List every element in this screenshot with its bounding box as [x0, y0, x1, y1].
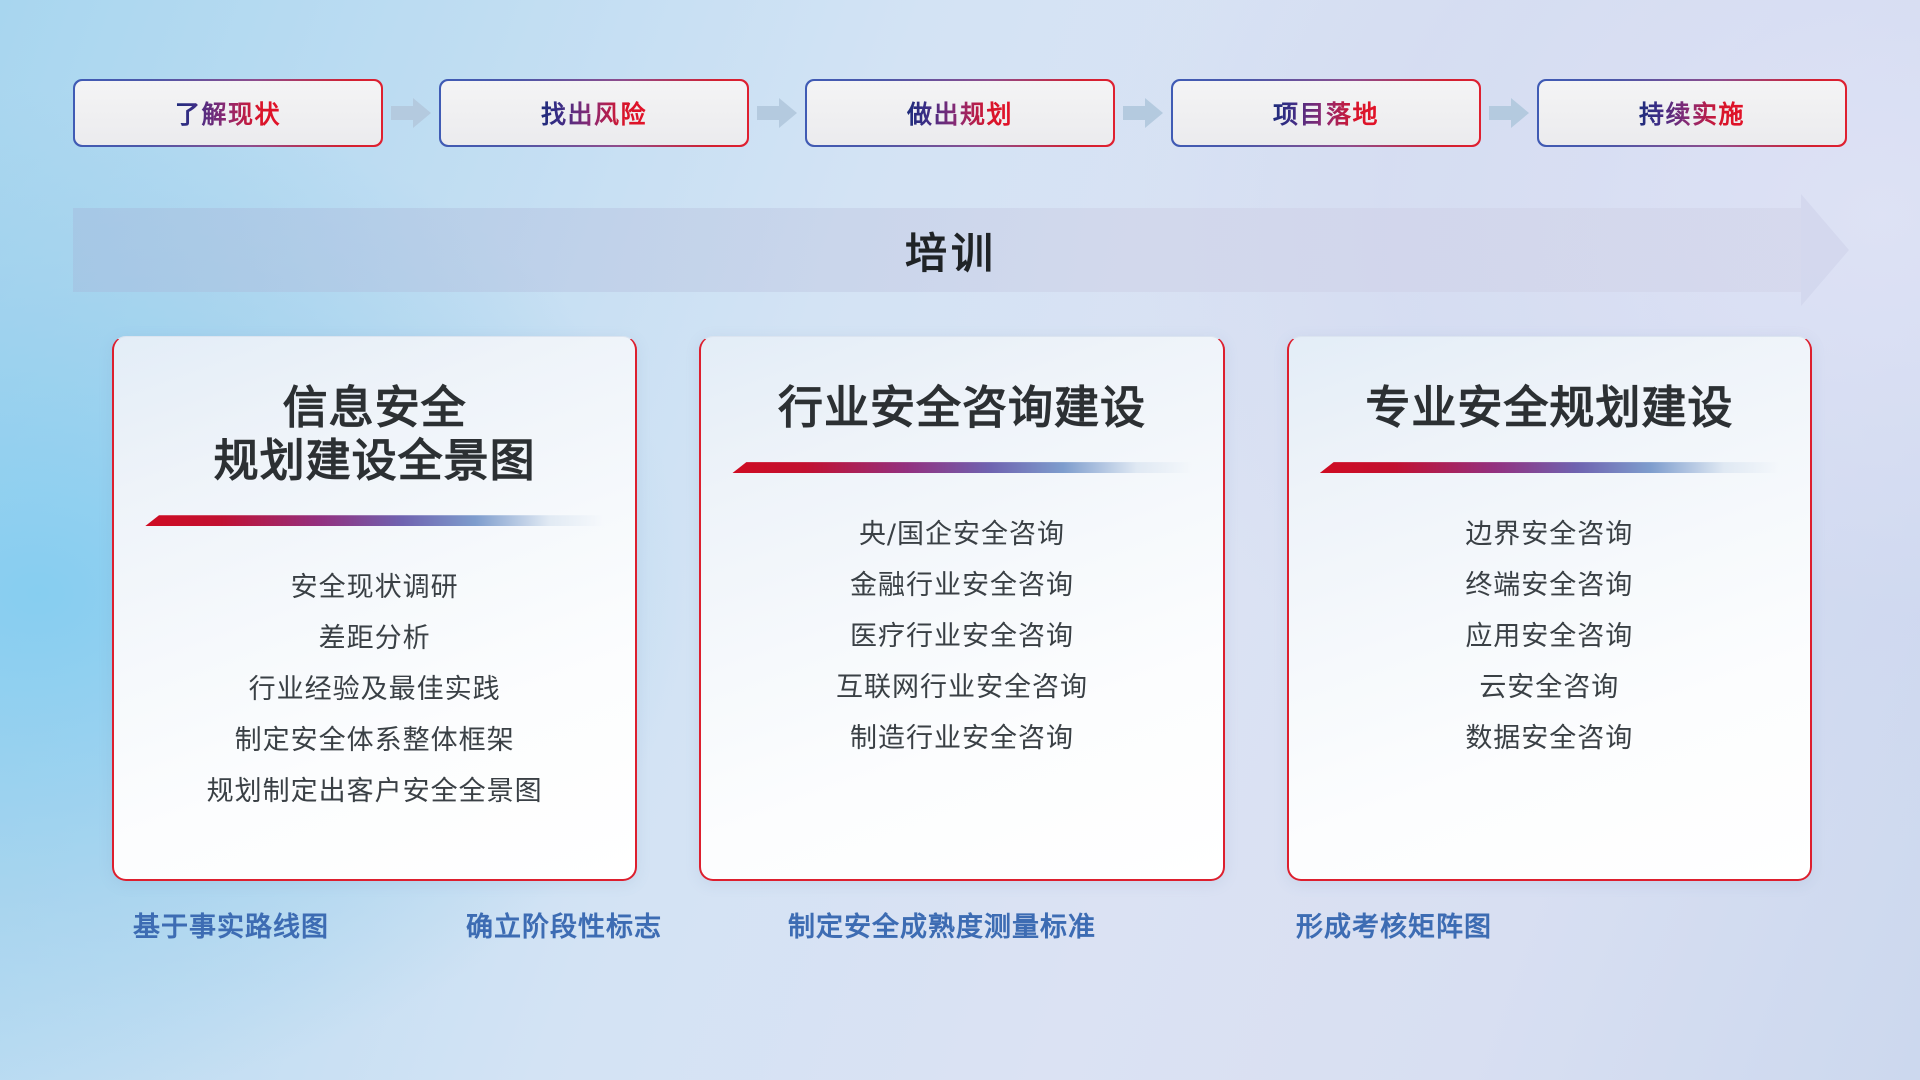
card-1-list: 央/国企安全咨询 金融行业安全咨询 医疗行业安全咨询 互联网行业安全咨询 制造行…: [701, 509, 1222, 764]
process-step-4[interactable]: 持续实施: [1537, 79, 1847, 147]
process-step-1-label: 找出风险: [541, 95, 647, 131]
caption-2: 制定安全成熟度测量标准: [788, 905, 1096, 944]
card-1[interactable]: 行业安全咨询建设 央/国企安全咨询 金融行业安全咨询 医疗行业安全咨询 互联网行…: [699, 336, 1224, 881]
caption-3: 形成考核矩阵图: [1296, 905, 1492, 944]
process-step-2[interactable]: 做出规划: [805, 79, 1115, 147]
step-arrow-icon-0: [383, 79, 439, 147]
list-item: 金融行业安全咨询: [850, 560, 1074, 611]
process-step-2-inner: 做出规划: [807, 81, 1113, 145]
step-arrow-icon-3: [1481, 79, 1537, 147]
caption-0: 基于事实路线图: [133, 905, 329, 944]
list-item: 云安全咨询: [1479, 662, 1619, 713]
list-item: 边界安全咨询: [1465, 509, 1633, 560]
card-1-title: 行业安全咨询建设: [778, 381, 1146, 434]
slide-canvas: 了解现状 找出风险 做出规划: [0, 0, 1920, 1080]
process-step-4-label: 持续实施: [1639, 95, 1745, 131]
card-0-divider: [145, 515, 604, 526]
process-step-0-label: 了解现状: [175, 95, 281, 131]
process-step-3-inner: 项目落地: [1173, 81, 1479, 145]
card-1-divider: [732, 462, 1191, 473]
training-banner-label: 培训: [73, 208, 1849, 292]
caption-row: 基于事实路线图 确立阶段性标志 制定安全成熟度测量标准 形成考核矩阵图: [0, 905, 1920, 965]
list-item: 互联网行业安全咨询: [836, 662, 1088, 713]
list-item: 安全现状调研: [291, 562, 459, 613]
card-row: 信息安全 规划建设全景图 安全现状调研 差距分析 行业经验及最佳实践 制定安全体…: [112, 336, 1812, 881]
process-step-4-inner: 持续实施: [1539, 81, 1845, 145]
process-step-3[interactable]: 项目落地: [1171, 79, 1481, 147]
list-item: 制定安全体系整体框架: [235, 715, 515, 766]
list-item: 规划制定出客户安全全景图: [207, 766, 543, 817]
process-step-2-label: 做出规划: [907, 95, 1013, 131]
process-step-0[interactable]: 了解现状: [73, 79, 383, 147]
card-0-list: 安全现状调研 差距分析 行业经验及最佳实践 制定安全体系整体框架 规划制定出客户…: [114, 562, 635, 817]
list-item: 制造行业安全咨询: [850, 713, 1074, 764]
step-arrow-icon-1: [749, 79, 805, 147]
training-banner: 培训: [73, 208, 1849, 292]
list-item: 医疗行业安全咨询: [850, 611, 1074, 662]
process-step-3-label: 项目落地: [1273, 95, 1379, 131]
card-2[interactable]: 专业安全规划建设 边界安全咨询 终端安全咨询 应用安全咨询 云安全咨询 数据安全…: [1287, 336, 1812, 881]
caption-1: 确立阶段性标志: [466, 905, 662, 944]
step-arrow-icon-2: [1115, 79, 1171, 147]
list-item: 终端安全咨询: [1465, 560, 1633, 611]
list-item: 差距分析: [319, 613, 431, 664]
process-step-row: 了解现状 找出风险 做出规划: [73, 79, 1849, 147]
list-item: 数据安全咨询: [1465, 713, 1633, 764]
card-2-divider: [1320, 462, 1779, 473]
process-step-1[interactable]: 找出风险: [439, 79, 749, 147]
list-item: 央/国企安全咨询: [859, 509, 1065, 560]
card-2-list: 边界安全咨询 终端安全咨询 应用安全咨询 云安全咨询 数据安全咨询: [1289, 509, 1810, 764]
card-2-title: 专业安全规划建设: [1365, 381, 1733, 434]
process-step-1-inner: 找出风险: [441, 81, 747, 145]
card-0-title: 信息安全 规划建设全景图: [214, 381, 536, 487]
list-item: 应用安全咨询: [1465, 611, 1633, 662]
process-step-0-inner: 了解现状: [75, 81, 381, 145]
card-0[interactable]: 信息安全 规划建设全景图 安全现状调研 差距分析 行业经验及最佳实践 制定安全体…: [112, 336, 637, 881]
list-item: 行业经验及最佳实践: [249, 664, 501, 715]
